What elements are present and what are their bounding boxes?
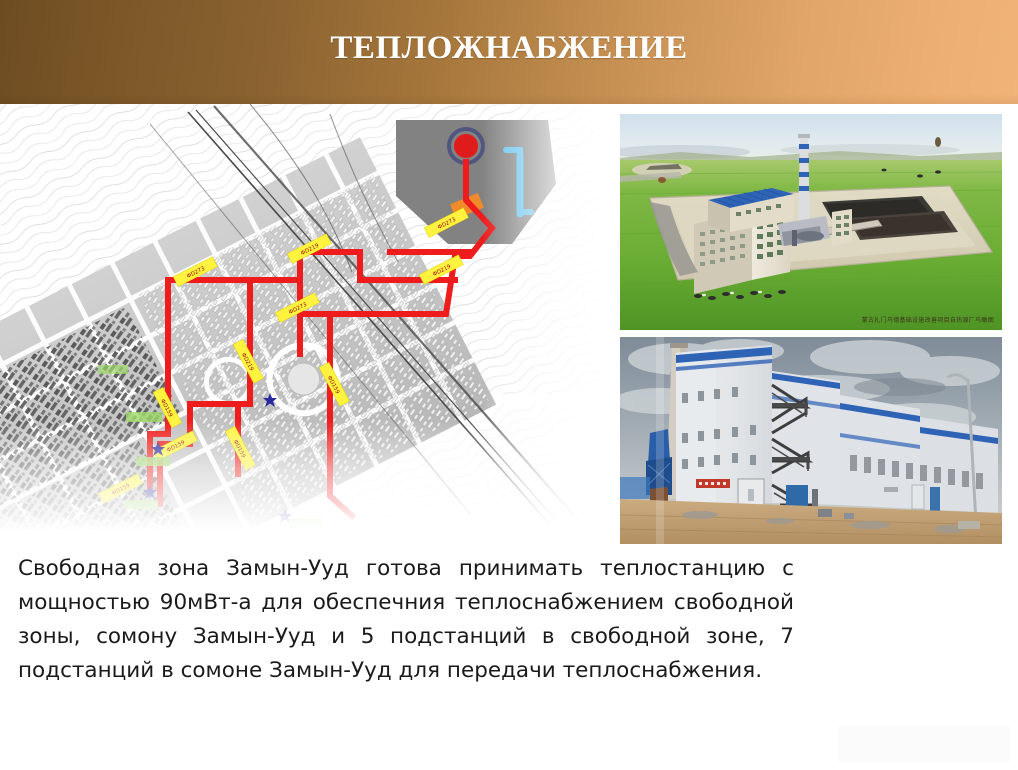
slide-header-band: ТЕПЛОЖНАБЖЕНИЕ bbox=[0, 0, 1018, 104]
plant-render-photo[interactable]: 蒙古扎门乌德基础设施改善项目自热源厂鸟瞰图 bbox=[620, 114, 1002, 330]
corner-watermark-text bbox=[838, 726, 1010, 762]
corner-watermark bbox=[838, 726, 1010, 762]
site-plan-map[interactable]: ФD273 ФD273 ФD219 ФD219 ФD273 bbox=[0, 104, 612, 540]
page-title: ТЕПЛОЖНАБЖЕНИЕ bbox=[0, 0, 1018, 104]
plant-built-photo[interactable] bbox=[620, 337, 1002, 544]
plant-render-graphic bbox=[620, 114, 1002, 330]
render-caption-chinese: 蒙古扎门乌德基础设施改善项目自热源厂鸟瞰图 bbox=[862, 315, 994, 324]
plant-built-graphic bbox=[620, 337, 1002, 544]
slide-body-paragraph: Свободная зона Замын-Ууд готова принимат… bbox=[18, 552, 794, 688]
map-graphic: ФD273 ФD273 ФD219 ФD219 ФD273 bbox=[0, 104, 612, 540]
